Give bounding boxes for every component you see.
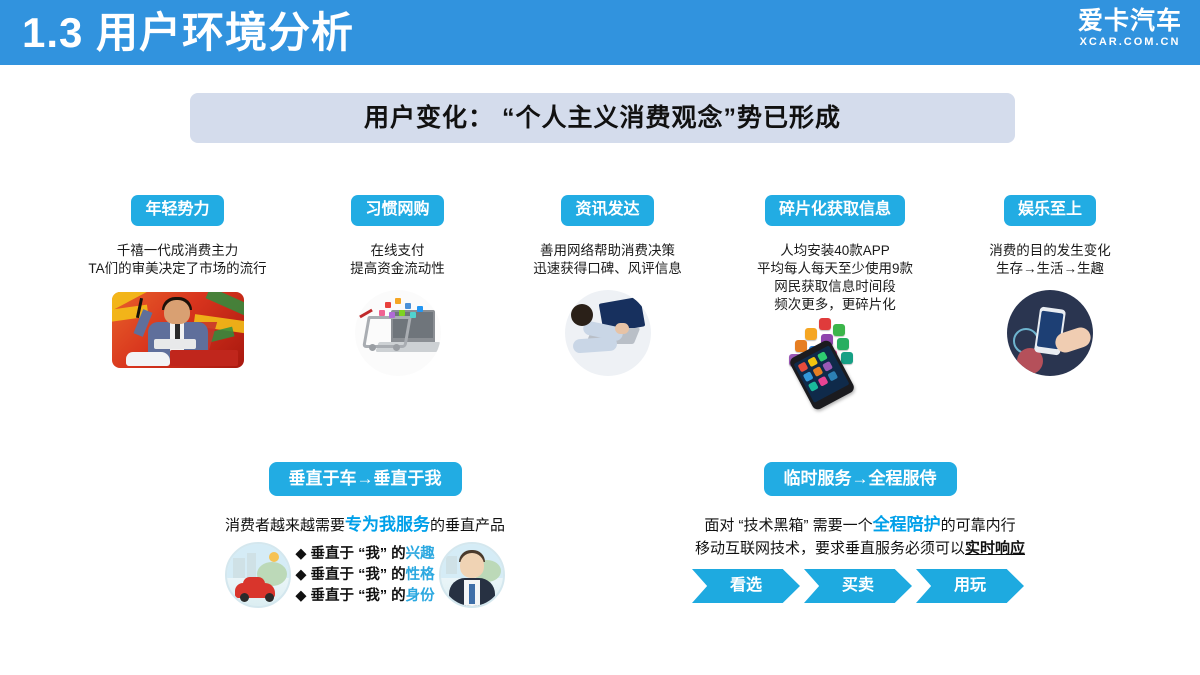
badge-info-rich: 资讯发达	[561, 195, 653, 226]
bullet-3-text: ◆ 垂直于 “我” 的	[295, 588, 405, 604]
badge-online-shopping: 习惯网购	[351, 195, 443, 226]
shopping-cart-laptop-photo	[355, 290, 441, 376]
list-item: ◆ 垂直于 “我” 的身份	[295, 586, 434, 607]
subtitle-banner: 用户变化： “个人主义消费观念”势已形成	[190, 93, 1015, 143]
hand-holding-phone-photo	[1007, 290, 1093, 376]
service-line-2-pre: 移动互联网技术，要求垂直服务必须可以	[695, 540, 965, 557]
logo-english-text: XCAR.COM.CN	[1078, 35, 1182, 49]
service-line-2-bold: 实时响应	[965, 540, 1025, 557]
vertical-headline-highlight: 专为我服务	[345, 515, 430, 534]
service-line-1-pre: 面对 “技术黑箱” 需要一个	[704, 517, 872, 534]
column-3-description: 善用网络帮助消费决策 迅速获得口碑、风评信息	[500, 242, 715, 278]
badge-fragmented-info: 碎片化获取信息	[765, 195, 905, 226]
brand-logo: 爱卡汽车 XCAR.COM.CN	[1078, 8, 1182, 49]
column-1-image-wrap	[60, 292, 295, 368]
column-1-description: 千禧一代成消费主力 TA们的审美决定了市场的流行	[60, 242, 295, 278]
feature-column-1: 年轻势力 千禧一代成消费主力 TA们的审美决定了市场的流行	[60, 195, 295, 368]
service-line-1-post: 的可靠内行	[941, 517, 1016, 534]
step-chevron-2[interactable]: 买卖	[804, 569, 912, 603]
bottom-section-vertical: 垂直于车→垂直于我 消费者越来越需要专为我服务的垂直产品 ◆ 垂直于 “我” 的…	[130, 462, 600, 608]
step-chevron-1[interactable]: 看选	[692, 569, 800, 603]
bottom-section-service: 临时服务→全程服侍 面对 “技术黑箱” 需要一个全程陪护的可靠内行 移动互联网技…	[640, 462, 1080, 603]
column-4-description: 人均安装40款APP 平均每人每天至少使用9款 网民获取信息时间段 频次更多，更…	[720, 242, 950, 314]
vertical-headline-post: 的垂直产品	[430, 517, 505, 534]
businessman-avatar-icon	[439, 542, 505, 608]
page-title: 1.3 用户环境分析	[22, 6, 354, 60]
badge-entertainment-first: 娱乐至上	[1004, 195, 1096, 226]
feature-column-5: 娱乐至上 消费的目的发生变化 生存→生活→生趣	[950, 195, 1150, 376]
badge-young-power: 年轻势力	[131, 195, 223, 226]
subtitle-text: 用户变化： “个人主义消费观念”势已形成	[190, 93, 1015, 143]
vertical-bullets-row: ◆ 垂直于 “我” 的兴趣 ◆ 垂直于 “我” 的性格 ◆ 垂直于 “我” 的身…	[130, 542, 600, 608]
feature-column-3: 资讯发达 善用网络帮助消费决策 迅速获得口碑、风评信息	[500, 195, 715, 376]
red-car-icon	[225, 542, 291, 608]
column-2-description: 在线支付 提高资金流动性	[300, 242, 495, 278]
feature-column-4: 碎片化获取信息 人均安装40款APP 平均每人每天至少使用9款 网民获取信息时间…	[720, 195, 950, 404]
service-line-1: 面对 “技术黑箱” 需要一个全程陪护的可靠内行	[640, 514, 1080, 536]
column-5-image-wrap	[950, 290, 1150, 376]
bullet-1-text: ◆ 垂直于 “我” 的	[295, 546, 405, 562]
column-4-image-wrap	[720, 318, 950, 404]
feature-column-2: 习惯网购 在线支付 提高资金流动性	[300, 195, 495, 376]
person-using-laptop-photo	[565, 290, 651, 376]
bullet-1-highlight: 兴趣	[406, 546, 435, 562]
smartphone-apps-photo	[775, 318, 895, 404]
bullet-2-text: ◆ 垂直于 “我” 的	[295, 567, 405, 583]
badge-vertical-to-me: 垂直于车→垂直于我	[269, 462, 462, 496]
column-2-image-wrap	[300, 290, 495, 376]
service-line-1-highlight: 全程陪护	[873, 515, 941, 534]
list-item: ◆ 垂直于 “我” 的性格	[295, 565, 434, 586]
logo-chinese-text: 爱卡汽车	[1078, 8, 1182, 35]
bullet-3-highlight: 身份	[406, 588, 435, 604]
service-steps-row: 看选 买卖 用玩	[640, 569, 1080, 603]
service-line-2: 移动互联网技术，要求垂直服务必须可以实时响应	[640, 538, 1080, 559]
badge-full-service: 临时服务→全程服侍	[764, 462, 957, 496]
bullet-2-highlight: 性格	[406, 567, 435, 583]
vertical-headline: 消费者越来越需要专为我服务的垂直产品	[130, 514, 600, 536]
column-3-image-wrap	[500, 290, 715, 376]
vertical-headline-pre: 消费者越来越需要	[225, 517, 345, 534]
list-item: ◆ 垂直于 “我” 的兴趣	[295, 544, 434, 565]
vertical-bullets-list: ◆ 垂直于 “我” 的兴趣 ◆ 垂直于 “我” 的性格 ◆ 垂直于 “我” 的身…	[295, 544, 434, 607]
column-5-description: 消费的目的发生变化 生存→生活→生趣	[950, 242, 1150, 278]
page-header: 1.3 用户环境分析 爱卡汽车 XCAR.COM.CN	[0, 0, 1200, 65]
step-chevron-3[interactable]: 用玩	[916, 569, 1024, 603]
tv-show-host-photo	[112, 292, 244, 368]
